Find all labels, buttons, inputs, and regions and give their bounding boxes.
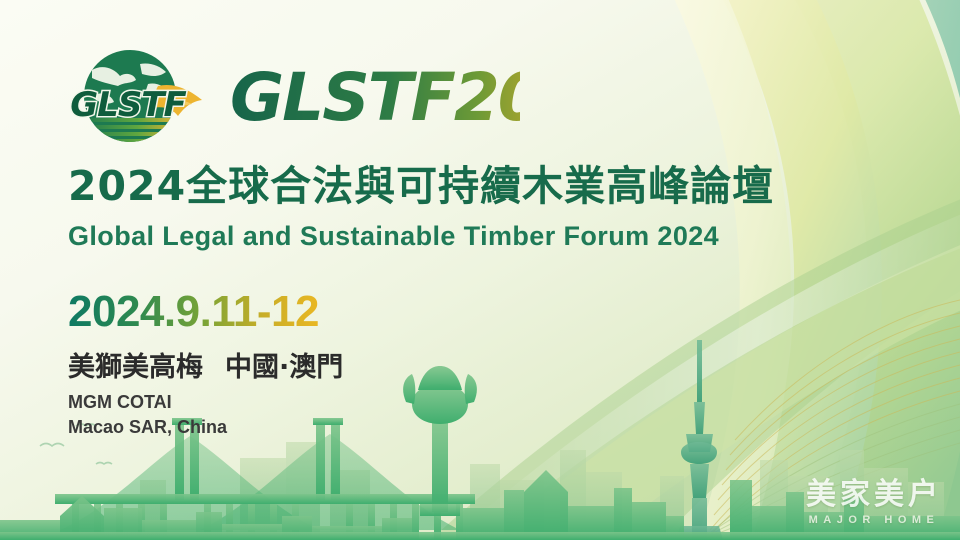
venue-cn-name: 美獅美高梅 — [68, 352, 203, 383]
venue-en-location: Macao SAR, China — [68, 415, 768, 440]
event-date-text: 2024.9.11-12 — [68, 287, 319, 337]
glstf-globe-dove-logo: GLSTF — [62, 42, 214, 150]
watermark-english: MAJOR HOME — [806, 512, 942, 528]
glstf-2024-wordmark: GLSTF2024 — [230, 48, 520, 144]
title-english: Global Legal and Sustainable Timber Foru… — [68, 217, 768, 255]
svg-text:GLSTF2024: GLSTF2024 — [230, 59, 520, 136]
venue-cn-location: 中國·澳門 — [225, 352, 343, 383]
title-chinese: 2024全球合法與可持續木業高峰論壇 — [68, 160, 768, 212]
venue-en-name: MGM COTAI — [68, 390, 768, 415]
watermark: 美家美户 MAJOR HOME — [806, 478, 942, 528]
poster-canvas: GLSTF GLSTF2024 2024全球合法與可持續木業高峰論壇 Globa… — [0, 0, 960, 540]
watermark-chinese: 美家美户 — [806, 478, 942, 512]
event-logo: GLSTF GLSTF2024 — [62, 42, 522, 150]
svg-text:GLSTF: GLSTF — [70, 85, 186, 125]
venue-chinese: 美獅美高梅中國·澳門 — [68, 351, 768, 385]
event-info-block: 2024全球合法與可持續木業高峰論壇 Global Legal and Sust… — [68, 160, 768, 440]
event-date: 2024.9.11-12 — [68, 287, 768, 337]
